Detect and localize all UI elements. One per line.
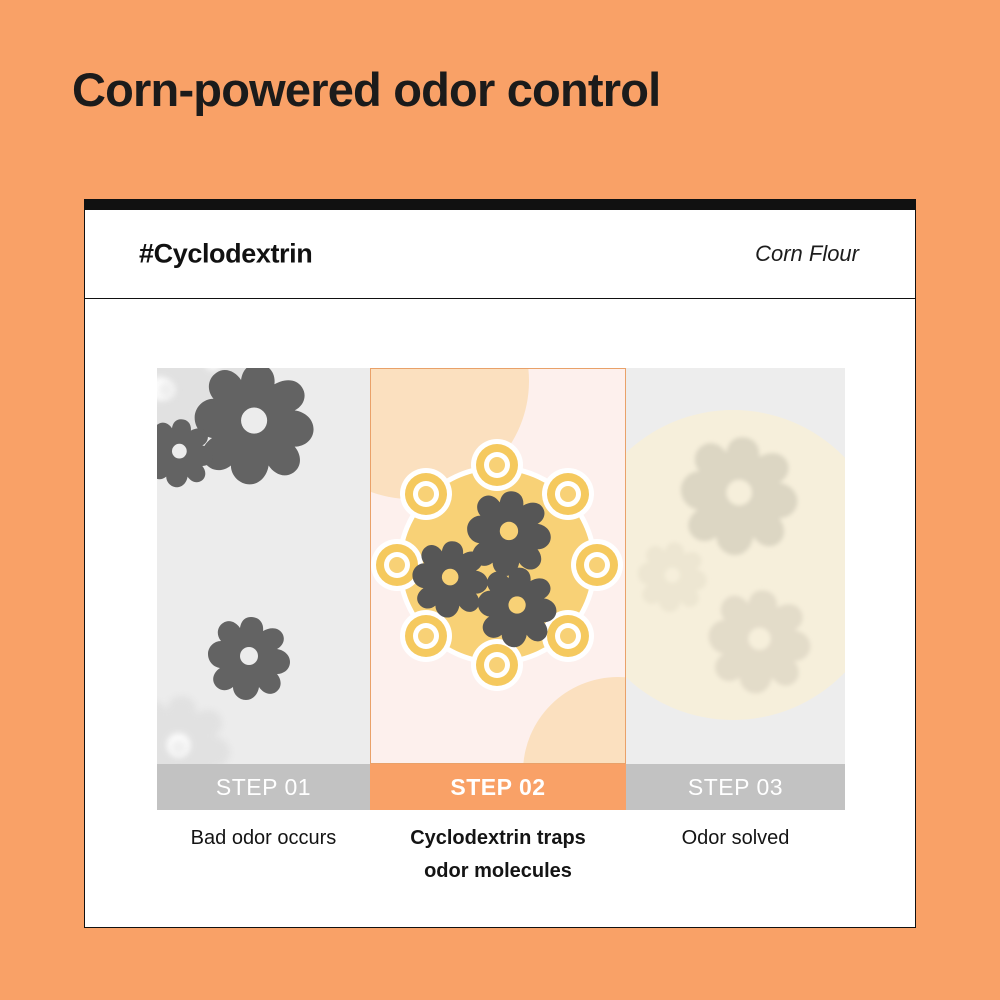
step-label-01[interactable]: STEP 01	[157, 764, 370, 810]
step-bar: STEP 01 STEP 02 STEP 03	[157, 764, 845, 810]
cyclodextrin-capsule-icon	[371, 369, 626, 764]
process-diagram: STEP 01 STEP 02 STEP 03	[157, 368, 845, 810]
subtitle-label: Corn Flour	[755, 241, 859, 267]
step-captions: Bad odor occurs Cyclodextrin traps odor …	[157, 822, 845, 888]
card-header: #Cyclodextrin Corn Flour	[85, 210, 915, 299]
caption-step-03: Odor solved	[626, 822, 845, 888]
infographic-card: #Cyclodextrin Corn Flour	[84, 199, 916, 928]
caption-step-02-line1: Cyclodextrin traps	[374, 822, 622, 855]
caption-step-02: Cyclodextrin traps odor molecules	[370, 822, 626, 888]
panel-step-03	[626, 368, 845, 764]
caption-step-02-line2: odor molecules	[374, 855, 622, 888]
step-label-02[interactable]: STEP 02	[370, 764, 626, 810]
step-label-03[interactable]: STEP 03	[626, 764, 845, 810]
caption-step-01: Bad odor occurs	[157, 822, 370, 888]
odor-molecules-dark-group-icon	[157, 368, 370, 764]
panel-step-01	[157, 368, 370, 764]
dissolved-molecules-icon	[626, 368, 845, 764]
panel-step-02	[370, 368, 626, 764]
hashtag-label: #Cyclodextrin	[139, 239, 312, 270]
diagram-panels	[157, 368, 845, 764]
page-title: Corn-powered odor control	[72, 62, 660, 117]
